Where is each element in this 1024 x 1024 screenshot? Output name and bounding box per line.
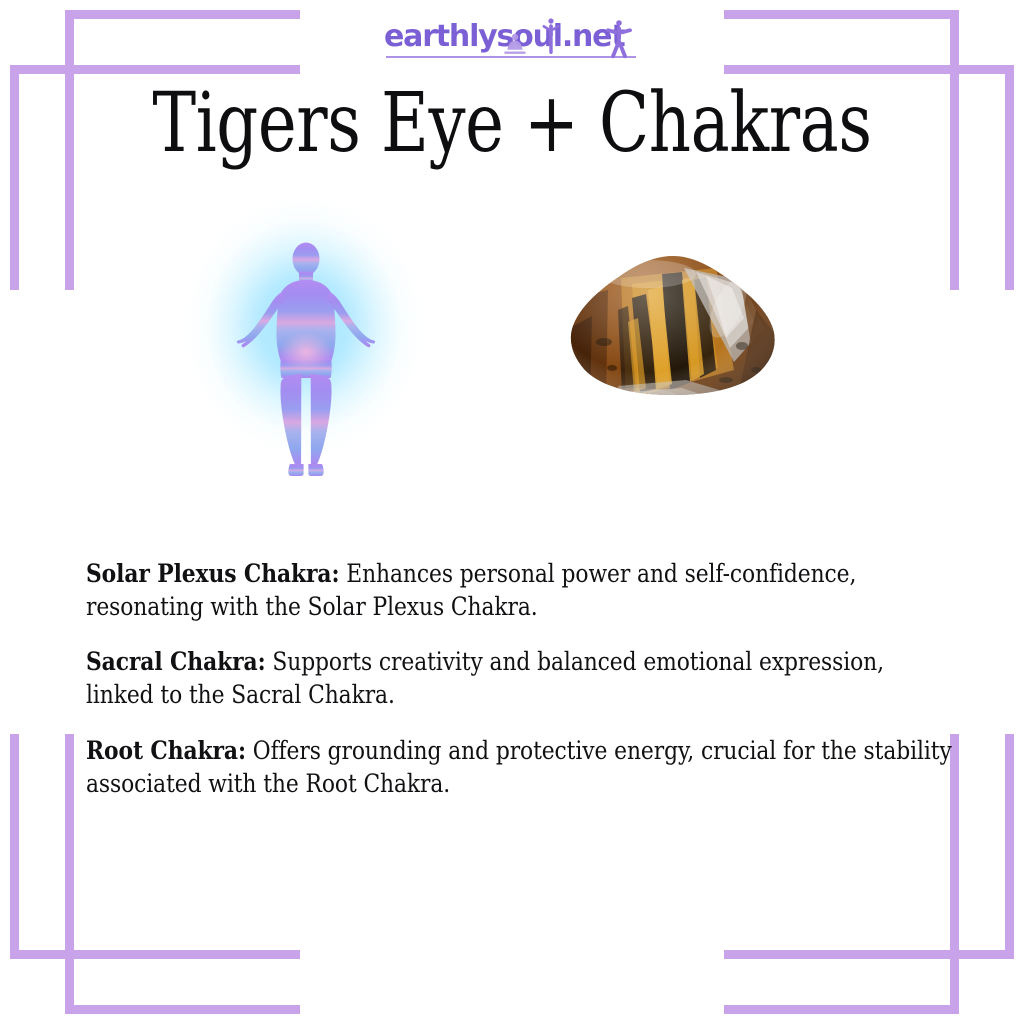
frame-line-bl-inner-h bbox=[65, 1005, 300, 1014]
frame-line-tl-outer-v bbox=[10, 65, 19, 290]
yoga-tree-pose-figure-icon bbox=[542, 16, 560, 56]
yoga-warrior-pose-figure-icon bbox=[606, 18, 632, 60]
frame-line-tr-outer-v bbox=[1005, 65, 1014, 290]
chakra-name-solar-plexus: Solar Plexus Chakra: bbox=[86, 559, 339, 589]
frame-line-tl-outer-h bbox=[10, 65, 300, 74]
chakra-entry-root: Root Chakra: Offers grounding and protec… bbox=[86, 735, 953, 801]
frame-line-br-inner-h bbox=[724, 1005, 959, 1014]
chakra-name-root: Root Chakra: bbox=[86, 736, 246, 766]
frame-line-br-outer-h bbox=[724, 950, 1014, 959]
tigers-eye-stone-image bbox=[566, 250, 780, 422]
chakra-name-sacral: Sacral Chakra: bbox=[86, 647, 266, 677]
yoga-meditation-figure-icon bbox=[502, 26, 528, 58]
chakra-description-list: Solar Plexus Chakra: Enhances personal p… bbox=[86, 558, 954, 801]
page-title: Tigers Eye + Chakras bbox=[102, 80, 921, 169]
frame-line-bl-outer-h bbox=[10, 950, 300, 959]
site-logo[interactable]: earthlysoul.net bbox=[0, 18, 1024, 60]
human-silhouette bbox=[178, 196, 434, 496]
frame-line-bl-inner-v bbox=[65, 734, 74, 1014]
frame-line-tr-outer-h bbox=[724, 65, 1014, 74]
chakra-entry-sacral: Sacral Chakra: Supports creativity and b… bbox=[86, 646, 953, 712]
chakra-entry-solar-plexus: Solar Plexus Chakra: Enhances personal p… bbox=[86, 558, 953, 624]
aura-human-figure-image bbox=[178, 196, 434, 496]
frame-line-bl-outer-v bbox=[10, 734, 19, 959]
frame-line-br-outer-v bbox=[1005, 734, 1014, 959]
infographic-canvas: earthlysoul.net bbox=[0, 0, 1024, 1024]
